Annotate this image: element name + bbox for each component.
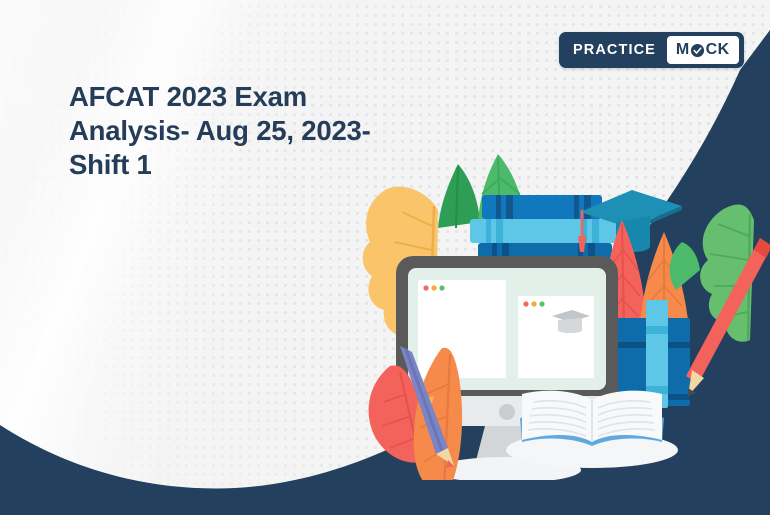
- accent-dot: [336, 445, 360, 455]
- browser-window-right: [518, 296, 594, 378]
- banner-root: AFCAT 2023 Exam Analysis- Aug 25, 2023- …: [0, 0, 770, 515]
- browser-window-left: [418, 280, 506, 378]
- study-desk-illustration: [330, 150, 770, 480]
- stacked-books: [470, 195, 616, 263]
- practicemock-logo[interactable]: PRACTICE M CK: [559, 32, 744, 68]
- page-title: AFCAT 2023 Exam Analysis- Aug 25, 2023- …: [69, 80, 409, 182]
- logo-mock-suffix: CK: [706, 41, 730, 59]
- open-book: [506, 391, 678, 468]
- check-circle-icon: [690, 43, 705, 58]
- monitor-power-button: [499, 404, 515, 420]
- logo-practice-text: PRACTICE: [559, 42, 667, 58]
- logo-mock-box: M CK: [667, 36, 739, 64]
- logo-mock-text: M CK: [676, 41, 730, 59]
- logo-mock-prefix: M: [676, 41, 690, 59]
